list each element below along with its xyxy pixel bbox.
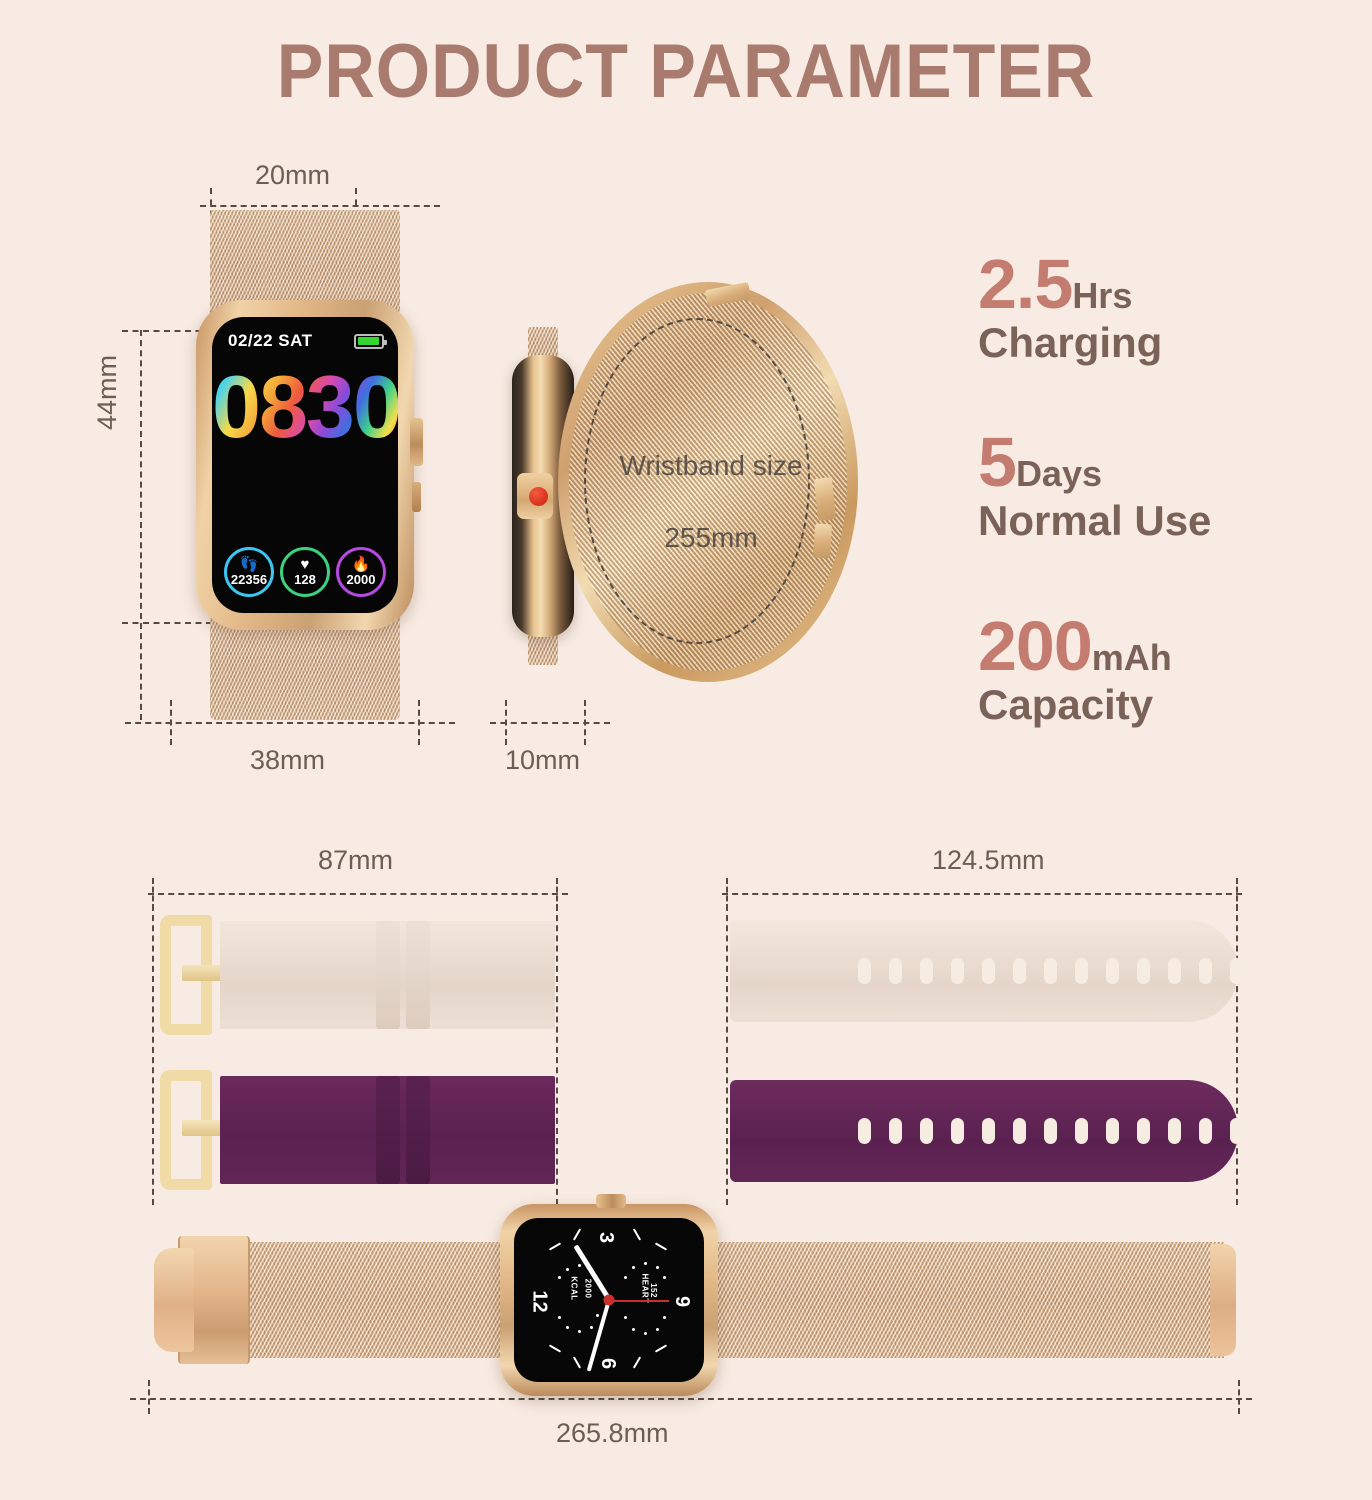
strap-hole [1168,958,1181,984]
crown-button-rotated[interactable] [596,1194,626,1208]
subdial-dot [663,1316,666,1319]
watch-case-front: 02/22 SAT 0830 👣 22356 ♥ 128 🔥 2 [196,300,414,630]
metric-heart-rate-value: 128 [294,572,316,588]
strap-hole [858,1118,871,1144]
strap-hole [1137,958,1150,984]
dim-tick-265-8mm-right [1238,1380,1240,1414]
spec-battery-life-number: 5 [978,423,1016,501]
strap-hole [982,958,995,984]
dimension-label-44mm: 44mm [92,355,123,430]
wristband-size-value: 255mm [566,522,856,554]
strap-hole [1230,958,1243,984]
spec-charging-number: 2.5 [978,245,1072,323]
strap-hole [1075,958,1088,984]
metric-steps: 👣 22356 [224,547,274,597]
subdial-dot [644,1332,647,1335]
dial-center-pivot [604,1295,615,1306]
metric-heart-rate: ♥ 128 [280,547,330,597]
battery-full-icon [354,334,384,349]
dial-tick [549,1242,561,1250]
dim-line-20mm [200,205,440,207]
dim-guide-87mm-left [152,905,154,1205]
strap-hole [1044,958,1057,984]
dial-tick [633,1356,641,1368]
strap-hole [889,1118,902,1144]
strap-adjustment-holes-pink [858,920,1243,1022]
wristband-size-label: Wristband size [566,450,856,482]
strap-keeper-1-pink [376,921,400,1029]
subdial-dot [566,1326,569,1329]
dimension-label-10mm: 10mm [505,745,580,776]
dim-guide-124-5mm-left [726,905,728,1205]
spec-charging-description: Charging [978,319,1162,366]
watch-screen[interactable]: 02/22 SAT 0830 👣 22356 ♥ 128 🔥 2 [212,317,398,613]
subdial-dot [578,1264,581,1267]
subdial-dot [663,1276,666,1279]
dim-line-265-8mm [130,1398,1252,1400]
smartwatch-front-view: 02/22 SAT 0830 👣 22356 ♥ 128 🔥 2 [196,210,414,720]
subdial-dot [644,1262,647,1265]
dial-numeral-9: 9 [670,1296,693,1307]
subdial-dot [624,1276,627,1279]
strap-hole [951,1118,964,1144]
product-parameter-infographic: PRODUCT PARAMETER 20mm 44mm 38mm 02/22 S… [0,0,1372,1500]
subdial-kcal-value: 2000 [583,1279,592,1299]
purple-strap-holes-half [730,1080,1238,1182]
time-display: 0830 [212,363,398,451]
strap-keeper-1-purple [376,1076,400,1184]
pink-silicone-strap [160,915,560,1035]
mesh-clasp-end [154,1248,194,1352]
spec-battery-life-unit: Days [1016,453,1102,494]
dimension-label-87mm: 87mm [318,845,393,876]
wristband-loop: Wristband size 255mm [558,282,858,682]
strap-hole [1137,1118,1150,1144]
page-title: PRODUCT PARAMETER [55,28,1317,115]
strap-keeper-2-pink [406,921,430,1029]
strap-keeper-2-purple [406,1076,430,1184]
purple-silicone-strap [160,1070,560,1190]
subdial-dot [596,1314,599,1317]
strap-buckle-pink [160,915,218,1035]
subdial-dot [632,1328,635,1331]
spec-charging-unit: Hrs [1072,275,1132,316]
metric-steps-value: 22356 [231,572,267,588]
spec-battery-life-description: Normal Use [978,497,1211,544]
subdial-dot [566,1268,569,1271]
dial-tick [655,1242,667,1250]
metric-calories-value: 2000 [347,572,376,588]
strap-hole [1168,1118,1181,1144]
subdial-kcal-label: KCAL [570,1276,579,1300]
red-accent-dot [529,487,548,506]
spec-capacity-number: 200 [978,607,1092,685]
strap-hole [1199,1118,1212,1144]
analog-watch-face[interactable]: 12 3 6 9 KCAL 2000 [514,1218,704,1382]
spec-capacity-description: Capacity [978,681,1172,728]
spec-charging-time: 2.5Hrs Charging [978,250,1162,366]
dimension-label-265-8mm: 265.8mm [556,1418,669,1449]
dial-numeral-3: 3 [594,1232,617,1243]
mesh-lug-bottom [528,633,558,665]
mesh-strip-right [704,1242,1224,1358]
watch-case-rotated: 12 3 6 9 KCAL 2000 [500,1204,718,1396]
dim-tick-38mm-right [418,700,420,745]
subdial-dot [632,1266,635,1269]
strap-hole [920,958,933,984]
strap-hole [1044,1118,1057,1144]
metrics-row: 👣 22356 ♥ 128 🔥 2000 [212,547,398,597]
dial-numeral-6: 6 [596,1358,619,1369]
strap-hole [1230,1118,1243,1144]
spec-battery-capacity: 200mAh Capacity [978,612,1172,728]
dim-tick-38mm-left [170,700,172,745]
subdial-dot [656,1328,659,1331]
strap-hole [1106,958,1119,984]
dim-tick-265-8mm-left [148,1380,150,1414]
mesh-strip-left [206,1242,516,1358]
spec-battery-life: 5Days Normal Use [978,428,1211,544]
crown-button[interactable] [410,418,423,466]
dim-line-44mm [140,330,142,720]
dial-tick [655,1344,667,1352]
subdial-dot [558,1316,561,1319]
pink-strap-holes-half [730,920,1238,1022]
strap-hole [1106,1118,1119,1144]
strap-hole [1013,1118,1026,1144]
footsteps-icon: 👣 [240,557,259,572]
dim-line-38mm [125,722,455,724]
strap-hole [920,1118,933,1144]
dial-numeral-12: 12 [528,1290,551,1312]
subdial-dot [590,1326,593,1329]
subdial-dot [624,1316,627,1319]
date-display: 02/22 SAT [228,331,313,351]
status-bar: 02/22 SAT [228,331,384,351]
dial-tick [573,1356,581,1368]
dimension-label-20mm: 20mm [255,160,330,191]
strap-hole [858,958,871,984]
flame-icon: 🔥 [352,557,371,572]
subdial-dot [558,1276,561,1279]
subdial-heart-value: 152 [649,1283,658,1298]
heart-icon: ♥ [301,557,310,572]
mesh-strip-right-end [1210,1244,1236,1356]
spec-capacity-unit: mAh [1092,637,1172,678]
strap-buckle-purple [160,1070,218,1190]
subdial-dot [578,1330,581,1333]
strap-hole [1199,958,1212,984]
metric-calories: 🔥 2000 [336,547,386,597]
strap-hole [1075,1118,1088,1144]
dim-line-10mm [490,722,610,724]
second-hand [609,1300,669,1302]
dim-line-124-5mm [722,893,1242,895]
subdial-dot [656,1266,659,1269]
dim-tick-10mm-left [505,700,507,745]
mesh-band-watch-full: 12 3 6 9 KCAL 2000 [148,1200,1240,1400]
dial-tick [573,1228,581,1240]
dial-tick [633,1228,641,1240]
dim-tick-10mm-right [584,700,586,745]
dim-line-87mm [148,893,568,895]
strap-hole [889,958,902,984]
dimension-label-124-5mm: 124.5mm [932,845,1045,876]
side-button[interactable] [412,482,421,512]
strap-hole [982,1118,995,1144]
dimension-label-38mm: 38mm [250,745,325,776]
dial-tick [549,1344,561,1352]
strap-hole [1013,958,1026,984]
strap-hole [951,958,964,984]
strap-adjustment-holes-purple [858,1080,1243,1182]
